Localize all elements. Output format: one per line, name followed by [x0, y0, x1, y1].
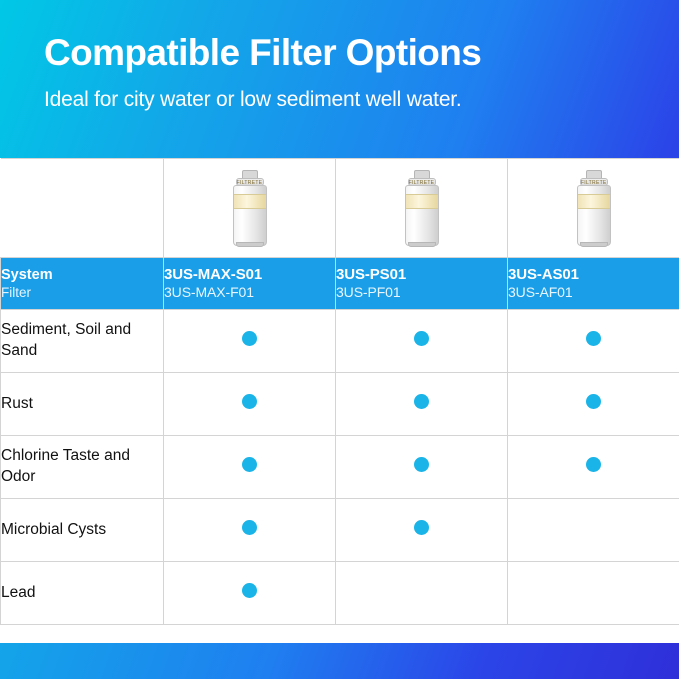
cartridge-brand-label-2: FILTRETE	[402, 180, 442, 186]
support-cell-3-2	[508, 499, 679, 562]
product-system-1: 3US-MAX-S01	[164, 265, 335, 284]
header-cell-product-2: 3US-PS01 3US-PF01	[336, 258, 508, 310]
table-row: Sediment, Soil and Sand	[1, 310, 679, 373]
support-dot	[242, 331, 257, 346]
support-cell-0-1	[336, 310, 508, 373]
support-dot	[586, 457, 601, 472]
support-dot-empty	[586, 583, 601, 598]
header-cell-product-1: 3US-MAX-S01 3US-MAX-F01	[164, 258, 336, 310]
support-dot	[242, 457, 257, 472]
table-header-row: System Filter 3US-MAX-S01 3US-MAX-F01 3U…	[1, 258, 679, 310]
support-cell-1-0	[164, 373, 336, 436]
support-dot	[242, 394, 257, 409]
support-cell-1-2	[508, 373, 679, 436]
product-filter-2: 3US-PF01	[336, 284, 507, 302]
table-row: Chlorine Taste and Odor	[1, 436, 679, 499]
empty-corner-cell	[1, 159, 164, 258]
table-row: Lead	[1, 562, 679, 625]
support-dot-empty	[414, 583, 429, 598]
compatibility-table: FILTRETE FILTRETE	[0, 158, 679, 625]
page-header: Compatible Filter Options Ideal for city…	[0, 0, 679, 158]
support-dot	[586, 331, 601, 346]
water-filter-cartridge-icon-1: FILTRETE	[230, 170, 270, 246]
feature-label-4: Lead	[1, 562, 164, 625]
water-filter-cartridge-icon-2: FILTRETE	[402, 170, 442, 246]
product-image-cell-2: FILTRETE	[336, 159, 508, 258]
header-label-filter: Filter	[1, 284, 163, 301]
support-dot-empty	[586, 520, 601, 535]
support-cell-3-1	[336, 499, 508, 562]
support-cell-2-2	[508, 436, 679, 499]
feature-label-2: Chlorine Taste and Odor	[1, 436, 164, 499]
support-cell-0-0	[164, 310, 336, 373]
feature-label-3: Microbial Cysts	[1, 499, 164, 562]
product-image-row: FILTRETE FILTRETE	[1, 159, 679, 258]
support-dot	[414, 331, 429, 346]
table-row: Rust	[1, 373, 679, 436]
support-cell-3-0	[164, 499, 336, 562]
table-row: Microbial Cysts	[1, 499, 679, 562]
cartridge-brand-label-3: FILTRETE	[574, 180, 614, 186]
support-dot	[586, 394, 601, 409]
support-cell-4-1	[336, 562, 508, 625]
page-subtitle: Ideal for city water or low sediment wel…	[44, 87, 639, 112]
support-cell-2-1	[336, 436, 508, 499]
support-cell-1-1	[336, 373, 508, 436]
support-cell-4-0	[164, 562, 336, 625]
support-cell-0-2	[508, 310, 679, 373]
product-filter-3: 3US-AF01	[508, 284, 679, 302]
product-filter-1: 3US-MAX-F01	[164, 284, 335, 302]
support-dot	[414, 457, 429, 472]
support-dot	[414, 394, 429, 409]
header-cell-product-3: 3US-AS01 3US-AF01	[508, 258, 679, 310]
support-cell-4-2	[508, 562, 679, 625]
support-dot	[242, 520, 257, 535]
comparison-table-card: FILTRETE FILTRETE	[0, 158, 679, 643]
header-label-system: System	[1, 266, 163, 285]
header-cell-system-filter: System Filter	[1, 258, 164, 310]
feature-label-1: Rust	[1, 373, 164, 436]
support-cell-2-0	[164, 436, 336, 499]
product-system-3: 3US-AS01	[508, 265, 679, 284]
water-filter-cartridge-icon-3: FILTRETE	[574, 170, 614, 246]
page-title: Compatible Filter Options	[44, 34, 639, 73]
support-dot	[414, 520, 429, 535]
support-dot	[242, 583, 257, 598]
product-system-2: 3US-PS01	[336, 265, 507, 284]
product-image-cell-3: FILTRETE	[508, 159, 679, 258]
infographic-page: Compatible Filter Options Ideal for city…	[0, 0, 679, 679]
footer-gradient-strip	[0, 643, 679, 679]
product-image-cell-1: FILTRETE	[164, 159, 336, 258]
feature-label-0: Sediment, Soil and Sand	[1, 310, 164, 373]
cartridge-brand-label-1: FILTRETE	[230, 180, 270, 186]
